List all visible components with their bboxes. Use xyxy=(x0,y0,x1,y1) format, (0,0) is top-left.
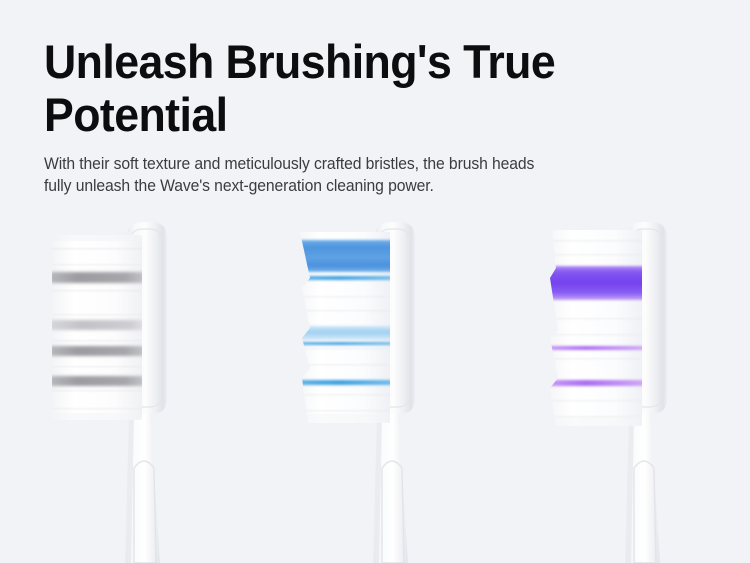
bristle-band xyxy=(547,266,645,300)
bristle-band xyxy=(547,380,645,386)
bristle-band xyxy=(50,346,144,356)
bristle-band xyxy=(295,326,393,340)
bristle-band xyxy=(547,346,645,350)
bristle-band xyxy=(295,276,393,280)
bristle-band xyxy=(295,342,393,345)
brush-handle xyxy=(625,413,660,563)
brush-handle xyxy=(125,413,160,563)
bristle-band xyxy=(50,376,144,386)
brush-head-gallery xyxy=(0,0,750,563)
brush-head-gray xyxy=(30,218,230,563)
brush-bristles xyxy=(295,232,393,424)
bristle-band xyxy=(295,380,393,385)
brush-head-purple xyxy=(530,218,730,563)
brush-head-blue xyxy=(278,218,478,563)
brush-handle xyxy=(373,413,408,563)
bristle-band xyxy=(50,272,144,283)
brush-bristles xyxy=(50,235,144,421)
brush-bristles xyxy=(547,230,645,426)
bristle-band xyxy=(50,320,144,330)
bristle-band xyxy=(295,240,393,272)
product-feature-page: Unleash Brushing's True Potential With t… xyxy=(0,0,750,563)
